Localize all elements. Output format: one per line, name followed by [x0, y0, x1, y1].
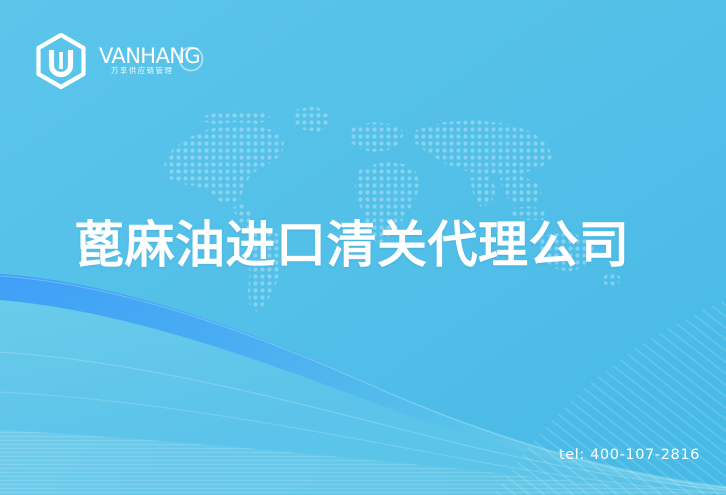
- brand-logo[interactable]: VANHANG 万享供应链管理: [32, 32, 209, 90]
- promo-banner: VANHANG 万享供应链管理 蓖麻油进口清关代理公司 tel: 400-107…: [0, 0, 726, 495]
- contact-phone[interactable]: tel: 400-107-2816: [559, 447, 700, 463]
- page-title: 蓖麻油进口清关代理公司: [74, 216, 630, 274]
- brand-subtitle: 万享供应链管理: [111, 65, 173, 76]
- brand-wordmark: VANHANG 万享供应链管理: [99, 41, 209, 81]
- hexagon-u-logo-icon: [32, 32, 90, 90]
